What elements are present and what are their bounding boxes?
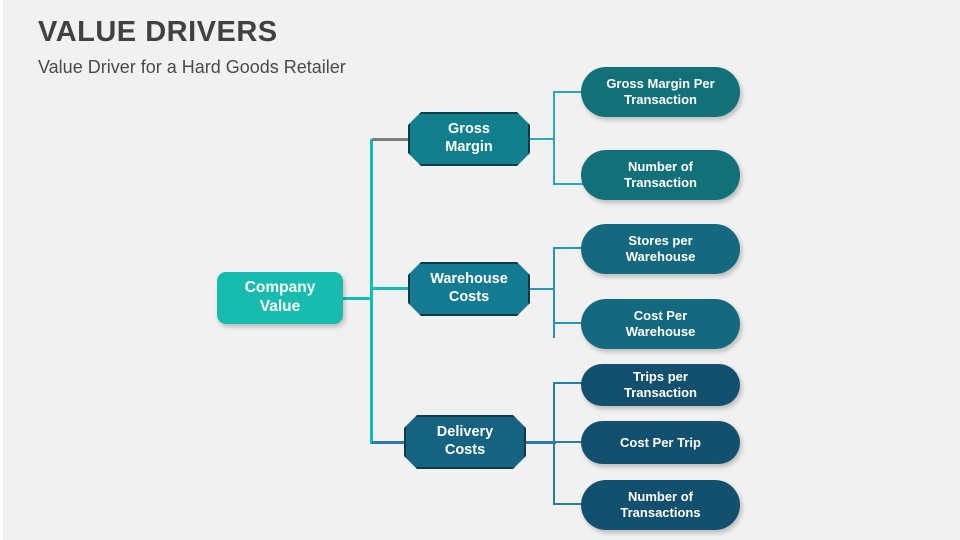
node-number-of-transaction-line1: Number of (616, 159, 705, 175)
node-stores-per-warehouse-line1: Stores per (618, 233, 704, 249)
connector-trunk-to-gross-margin (372, 138, 409, 141)
connector-gross-margin-stem (529, 138, 554, 140)
connector-root-to-trunk (343, 297, 373, 300)
connector-delivery-costs-spine (553, 383, 555, 505)
slide-canvas: VALUE DRIVERS Value Driver for a Hard Go… (0, 0, 960, 540)
node-cost-per-warehouse[interactable]: Cost Per Warehouse (581, 299, 740, 349)
node-stores-per-warehouse-line2: Warehouse (618, 249, 704, 265)
connector-trunk-to-delivery-costs (372, 441, 408, 444)
connector-trunk-vertical (370, 139, 373, 444)
node-cost-per-trip[interactable]: Cost Per Trip (581, 421, 740, 464)
node-delivery-costs[interactable]: Delivery Costs (404, 415, 526, 469)
connector-warehouse-costs-leaf-2 (553, 322, 583, 324)
node-cost-per-trip-line1: Cost Per Trip (612, 435, 709, 451)
connector-gross-margin-leaf-2 (553, 183, 583, 185)
node-trips-per-transaction-line1: Trips per Transaction (589, 369, 732, 401)
page-title: VALUE DRIVERS (38, 16, 638, 49)
node-gross-margin-per-transaction-line2: Transaction (598, 92, 722, 108)
node-company-value-line1: Company (237, 279, 324, 298)
node-number-of-transactions[interactable]: Number of Transactions (581, 480, 740, 530)
node-company-value-line2: Value (237, 298, 324, 317)
header: VALUE DRIVERS Value Driver for a Hard Go… (38, 16, 638, 79)
node-trips-per-transaction[interactable]: Trips per Transaction (581, 364, 740, 406)
connector-warehouse-costs-leaf-1 (553, 247, 583, 249)
node-cost-per-warehouse-line2: Warehouse (618, 324, 704, 340)
connector-delivery-costs-stem (524, 441, 556, 444)
page-subtitle: Value Driver for a Hard Goods Retailer (38, 57, 638, 79)
connector-warehouse-costs-stem (529, 288, 554, 290)
connector-trunk-to-warehouse-costs (372, 287, 409, 290)
node-cost-per-warehouse-line1: Cost Per (618, 308, 704, 324)
node-gross-margin-line1: Gross (437, 121, 501, 139)
connector-delivery-costs-leaf-3 (553, 503, 583, 505)
node-gross-margin-line2: Margin (437, 139, 501, 157)
node-number-of-transaction[interactable]: Number of Transaction (581, 150, 740, 200)
node-gross-margin-per-transaction-line1: Gross Margin Per (598, 76, 722, 92)
connector-delivery-costs-leaf-1 (553, 382, 583, 384)
node-warehouse-costs-line1: Warehouse (422, 271, 516, 289)
left-edge-strip (0, 0, 3, 540)
node-number-of-transactions-line2: Transactions (612, 505, 708, 521)
node-delivery-costs-line2: Costs (429, 442, 501, 460)
node-delivery-costs-line1: Delivery (429, 424, 501, 442)
node-number-of-transactions-line1: Number of (612, 489, 708, 505)
connector-gross-margin-spine (553, 92, 555, 185)
connector-warehouse-costs-spine (553, 248, 555, 338)
node-warehouse-costs-line2: Costs (422, 289, 516, 307)
connector-delivery-costs-leaf-2 (553, 441, 583, 443)
node-warehouse-costs[interactable]: Warehouse Costs (408, 262, 530, 316)
node-stores-per-warehouse[interactable]: Stores per Warehouse (581, 224, 740, 274)
node-gross-margin-per-transaction[interactable]: Gross Margin Per Transaction (581, 67, 740, 117)
node-gross-margin[interactable]: Gross Margin (408, 112, 530, 166)
connector-gross-margin-leaf-1 (553, 91, 583, 93)
node-number-of-transaction-line2: Transaction (616, 175, 705, 191)
node-company-value[interactable]: Company Value (217, 272, 343, 324)
